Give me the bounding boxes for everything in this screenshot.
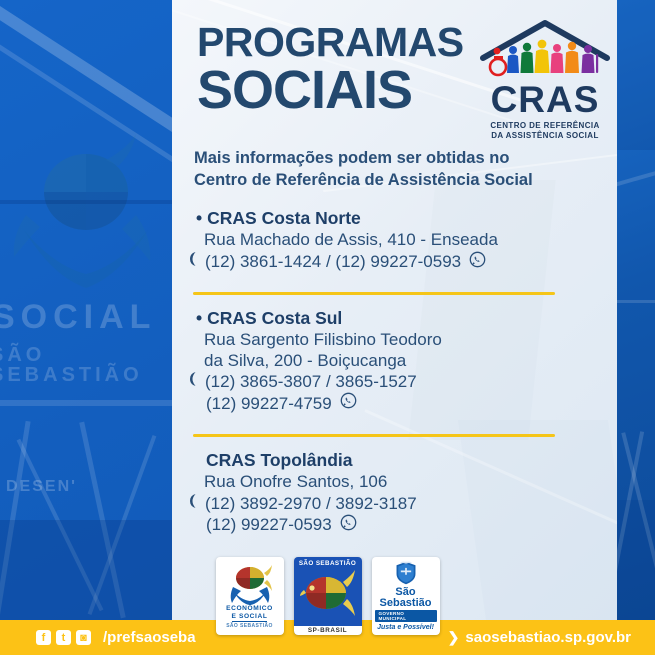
- logo-text-line-2: E SOCIAL: [232, 613, 268, 623]
- section-divider: [193, 292, 555, 295]
- unit-phone-text: (12) 99227-0593: [206, 514, 332, 535]
- left-watermark-text-1: SOCIAL: [0, 300, 172, 334]
- unit-name-text: CRAS Costa Sul: [207, 308, 342, 328]
- unit-phone-line: (12) 99227-4759: [206, 392, 606, 414]
- logo-top-text: SÃO SEBASTIÃO: [299, 560, 356, 567]
- section-divider: [193, 434, 555, 437]
- logo-text-line-1: ECONÔMICO: [226, 605, 273, 613]
- left-photo-panel: SOCIAL SÃO SEBASTIÃO DESEN': [0, 0, 172, 620]
- unit-phone-text: (12) 3892-2970 / 3892-3187: [205, 493, 417, 514]
- unit-name: •CRAS Costa Sul: [196, 308, 606, 330]
- unit-name-text: CRAS Costa Norte: [207, 208, 361, 228]
- hands-fish-icon: [227, 561, 273, 605]
- unit-name: CRAS Topolândia: [206, 450, 606, 472]
- unit-phone-text: (12) 99227-4759: [206, 393, 332, 414]
- intro-line-1: Mais informações podem ser obtidas no: [194, 148, 594, 170]
- phone-icon: [186, 371, 201, 392]
- cras-logo: CRAS CENTRO DE REFERÊNCIA DA ASSISTÊNCIA…: [475, 18, 615, 141]
- poster: SOCIAL SÃO SEBASTIÃO DESEN' PROGRAMAS SO…: [0, 0, 655, 655]
- logo-text-line-3: SÃO SEBASTIÃO: [226, 623, 273, 629]
- unit-address-line: Rua Sargento Filisbino Teodoro: [204, 330, 606, 351]
- coat-of-arms-icon: [391, 561, 421, 585]
- cras-people-house-icon: [475, 18, 615, 80]
- bullet-icon: •: [196, 308, 202, 328]
- photo-line: [617, 300, 655, 303]
- cras-subtitle-1: CENTRO DE REFERÊNCIA: [475, 121, 615, 131]
- photo-line: [0, 400, 172, 406]
- photo-line: [617, 167, 655, 187]
- page-title: PROGRAMAS SOCIAIS: [197, 22, 464, 117]
- unit-name: •CRAS Costa Norte: [196, 208, 606, 230]
- unit-name-text: CRAS Topolândia: [206, 450, 352, 470]
- content-panel: PROGRAMAS SOCIAIS: [172, 0, 617, 620]
- right-photo-strip: [617, 0, 655, 620]
- photo-shade: [617, 0, 655, 150]
- governo-municipal-logo: São Sebastião GOVERNO MUNICIPAL Justa e …: [372, 557, 440, 635]
- logo-name-line-1: São: [395, 587, 415, 597]
- intro-line-2: Centro de Referência de Assistência Soci…: [194, 170, 594, 192]
- unit-entry-costa-sul: •CRAS Costa Sul Rua Sargento Filisbino T…: [186, 308, 606, 415]
- unit-phone-text: (12) 3861-1424 / (12) 99227-0593: [205, 251, 461, 272]
- unit-address-line: da Silva, 200 - Boiçucanga: [204, 351, 606, 372]
- title-line-1: PROGRAMAS: [197, 22, 464, 62]
- unit-phone-line: (12) 99227-0593: [206, 514, 606, 536]
- whatsapp-icon: [340, 392, 357, 414]
- intro-text: Mais informações podem ser obtidas no Ce…: [194, 148, 594, 192]
- unit-address-line: Rua Machado de Assis, 410 - Enseada: [204, 230, 606, 251]
- unit-phone-line: (12) 3892-2970 / 3892-3187: [186, 493, 606, 514]
- logo-name-line-2: Sebastião: [380, 598, 432, 608]
- unit-entry-costa-norte: •CRAS Costa Norte Rua Machado de Assis, …: [186, 208, 606, 273]
- logo-slogan: Justa e Possível!: [377, 624, 434, 631]
- fish-emblem-icon: [299, 568, 357, 618]
- photo-shade: [0, 200, 172, 204]
- whatsapp-icon: [340, 514, 357, 536]
- logo-bottom-text: SP-BRASIL: [294, 626, 362, 635]
- sao-sebastiao-fish-logo: SÃO SEBASTIÃO SP-BRASIL: [294, 557, 362, 635]
- footer-logos: ECONÔMICO E SOCIAL SÃO SEBASTIÃO SÃO SEB…: [0, 557, 655, 635]
- cras-acronym: CRAS: [475, 81, 615, 118]
- cras-subtitle-2: DA ASSISTÊNCIA SOCIAL: [475, 131, 615, 141]
- unit-phone-line: (12) 3865-3807 / 3865-1527: [186, 371, 606, 392]
- phone-icon: [186, 493, 201, 514]
- whatsapp-icon: [469, 251, 486, 273]
- left-watermark-text-2: SÃO SEBASTIÃO: [0, 345, 172, 385]
- economico-social-logo: ECONÔMICO E SOCIAL SÃO SEBASTIÃO: [216, 557, 284, 635]
- unit-phone-line: (12) 3861-1424 / (12) 99227-0593: [186, 251, 606, 273]
- phone-icon: [186, 251, 201, 272]
- unit-entry-topolandia: CRAS Topolândia Rua Onofre Santos, 106 (…: [186, 450, 606, 536]
- watermark-emblem-icon: [6, 120, 166, 310]
- logo-band-text: GOVERNO MUNICIPAL: [375, 610, 437, 622]
- title-line-2: SOCIAIS: [197, 64, 464, 117]
- unit-phone-text: (12) 3865-3807 / 3865-1527: [205, 371, 417, 392]
- unit-address-line: Rua Onofre Santos, 106: [204, 472, 606, 493]
- bullet-icon: •: [196, 208, 202, 228]
